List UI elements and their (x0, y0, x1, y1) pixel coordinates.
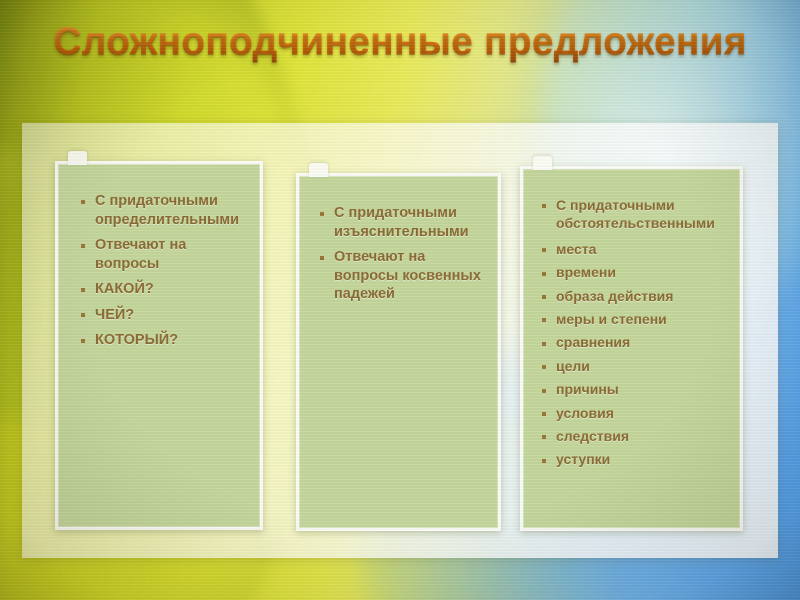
bullet-icon (542, 272, 546, 276)
list-item-label: сравнения (556, 334, 630, 350)
list-item-label: уступки (556, 451, 610, 467)
list-item: уступки (539, 451, 730, 469)
list-item: следствия (539, 428, 730, 446)
card-body: С придаточными определительными Отвечают… (58, 164, 260, 527)
bullet-icon (542, 365, 546, 369)
list-item: С придаточными определительными (78, 192, 250, 229)
list-item: меры и степени (539, 311, 730, 329)
bullet-icon (542, 295, 546, 299)
bullet-icon (542, 204, 546, 208)
list-item-label: С придаточными обстоятельственными (556, 197, 715, 231)
list-item: условия (539, 405, 730, 423)
list-item: Отвечают на вопросы (78, 236, 250, 273)
list-item: цели (539, 358, 730, 376)
bullet-icon (320, 212, 324, 216)
bullet-icon (81, 313, 85, 317)
list-item: Отвечают на вопросы косвенных падежей (317, 248, 488, 304)
bullet-icon (81, 288, 85, 292)
list-item-label: условия (556, 405, 614, 421)
bullet-icon (542, 318, 546, 322)
bullet-list-obstoyatelstvennye: С придаточными обстоятельственными места… (533, 197, 730, 469)
bullet-icon (542, 389, 546, 393)
slide-title: Сложноподчиненные предложения (0, 20, 800, 64)
list-item-label: места (556, 241, 596, 257)
list-item-label: следствия (556, 428, 629, 444)
bullet-icon (81, 244, 85, 248)
bullet-icon (542, 459, 546, 463)
list-item: времени (539, 264, 730, 282)
list-item-label: цели (556, 358, 590, 374)
bullet-icon (542, 435, 546, 439)
list-item: сравнения (539, 334, 730, 352)
content-card-izyasnitelnye: С придаточными изъяснительными Отвечают … (296, 173, 501, 531)
list-item-label: причины (556, 381, 619, 397)
list-item: С придаточными изъяснительными (317, 204, 488, 241)
list-item: образа действия (539, 288, 730, 306)
list-item: причины (539, 381, 730, 399)
list-item-label: С придаточными изъяснительными (334, 205, 469, 240)
list-item-label: С придаточными определительными (95, 193, 239, 228)
list-item: места (539, 241, 730, 259)
list-item-label: образа действия (556, 288, 673, 304)
list-item: ЧЕЙ? (78, 306, 250, 325)
bullet-list-izyasnitelnye: С придаточными изъяснительными Отвечают … (309, 204, 488, 304)
list-item-label: времени (556, 264, 616, 280)
bullet-icon (542, 342, 546, 346)
list-item-label: меры и степени (556, 311, 667, 327)
list-item-label: КОТОРЫЙ? (95, 332, 178, 348)
bullet-list-opredelitelnye: С придаточными определительными Отвечают… (68, 192, 250, 350)
content-card-obstoyatelstvennye: С придаточными обстоятельственными места… (520, 166, 743, 531)
bullet-icon (81, 339, 85, 343)
list-item-label: ЧЕЙ? (95, 307, 134, 323)
list-item-label: Отвечают на вопросы (95, 237, 186, 272)
list-item: КОТОРЫЙ? (78, 331, 250, 350)
slide: Сложноподчиненные предложения С придаточ… (0, 0, 800, 600)
list-item: С придаточными обстоятельственными (539, 197, 730, 233)
list-item-label: КАКОЙ? (95, 281, 154, 297)
bullet-icon (320, 256, 324, 260)
list-item-label: Отвечают на вопросы косвенных падежей (334, 249, 481, 302)
bullet-icon (81, 200, 85, 204)
bullet-icon (542, 412, 546, 416)
content-card-opredelitelnye: С придаточными определительными Отвечают… (55, 161, 263, 530)
card-body: С придаточными обстоятельственными места… (523, 169, 740, 528)
list-item: КАКОЙ? (78, 280, 250, 299)
card-body: С придаточными изъяснительными Отвечают … (299, 176, 498, 528)
bullet-icon (542, 248, 546, 252)
